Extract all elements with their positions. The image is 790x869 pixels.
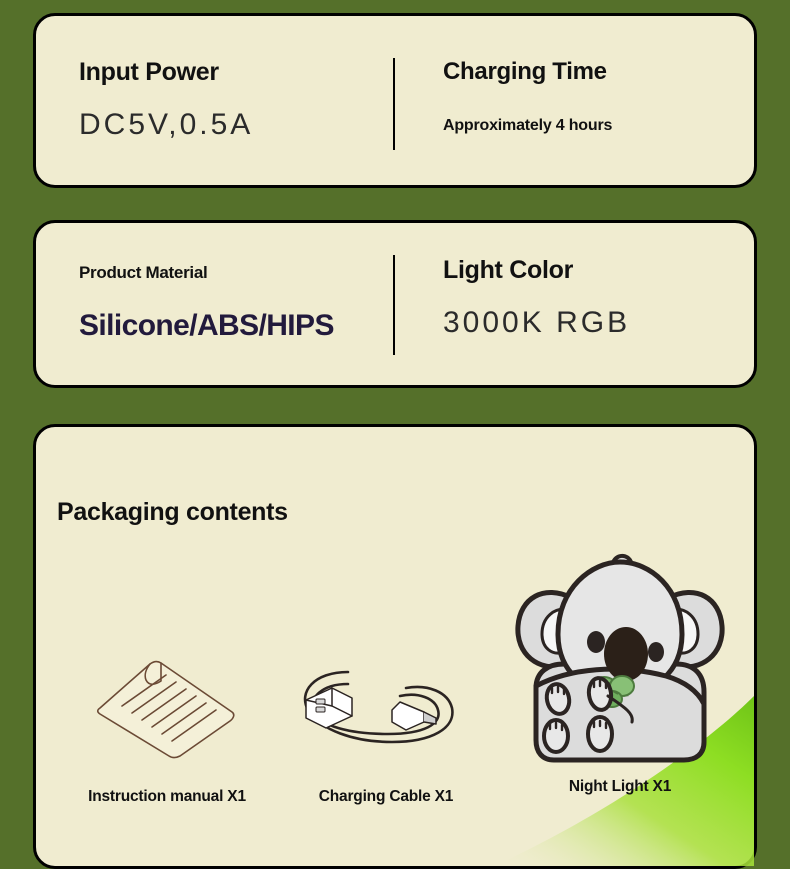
packaging-caption-cable: Charging Cable X1 [296,788,476,806]
spec-divider-2 [393,255,395,355]
spec-input-power: Input Power DC5V,0.5A [79,58,253,142]
packaging-caption-night-light: Night Light X1 [500,778,740,796]
koala-eye-right [648,642,664,662]
spec-charging-time: Charging Time Approximately 4 hours [443,58,612,135]
packaging-item-manual: Instruction manual X1 [62,650,272,806]
spec-value-charging-time: Approximately 4 hours [443,117,612,135]
spec-divider-1 [393,58,395,150]
product-spec-page: Input Power DC5V,0.5A Charging Time Appr… [0,0,790,849]
spec-label-charging-time: Charging Time [443,58,612,86]
instruction-manual-icon [62,650,272,760]
koala-night-light-icon [500,536,740,766]
packaging-title: Packaging contents [57,498,288,527]
spec-label-product-material: Product Material [79,263,334,283]
spec-card-material: Product Material Silicone/ABS/HIPS Light… [33,220,757,388]
spec-light-color: Light Color 3000K RGB [443,256,630,340]
spec-label-light-color: Light Color [443,256,630,285]
spec-card-input-power: Input Power DC5V,0.5A Charging Time Appr… [33,13,757,188]
koala-eye-left [587,631,605,653]
packaging-caption-manual: Instruction manual X1 [62,788,272,806]
packaging-item-cable: Charging Cable X1 [296,650,476,806]
packaging-item-night-light: Night Light X1 [500,536,740,796]
spec-label-input-power: Input Power [79,58,253,87]
spec-product-material: Product Material Silicone/ABS/HIPS [79,263,334,343]
spec-value-input-power: DC5V,0.5A [79,108,253,142]
spec-value-light-color: 3000K RGB [443,306,630,340]
spec-value-product-material: Silicone/ABS/HIPS [79,309,334,343]
koala-nose [604,627,648,681]
charging-cable-icon [296,650,476,760]
